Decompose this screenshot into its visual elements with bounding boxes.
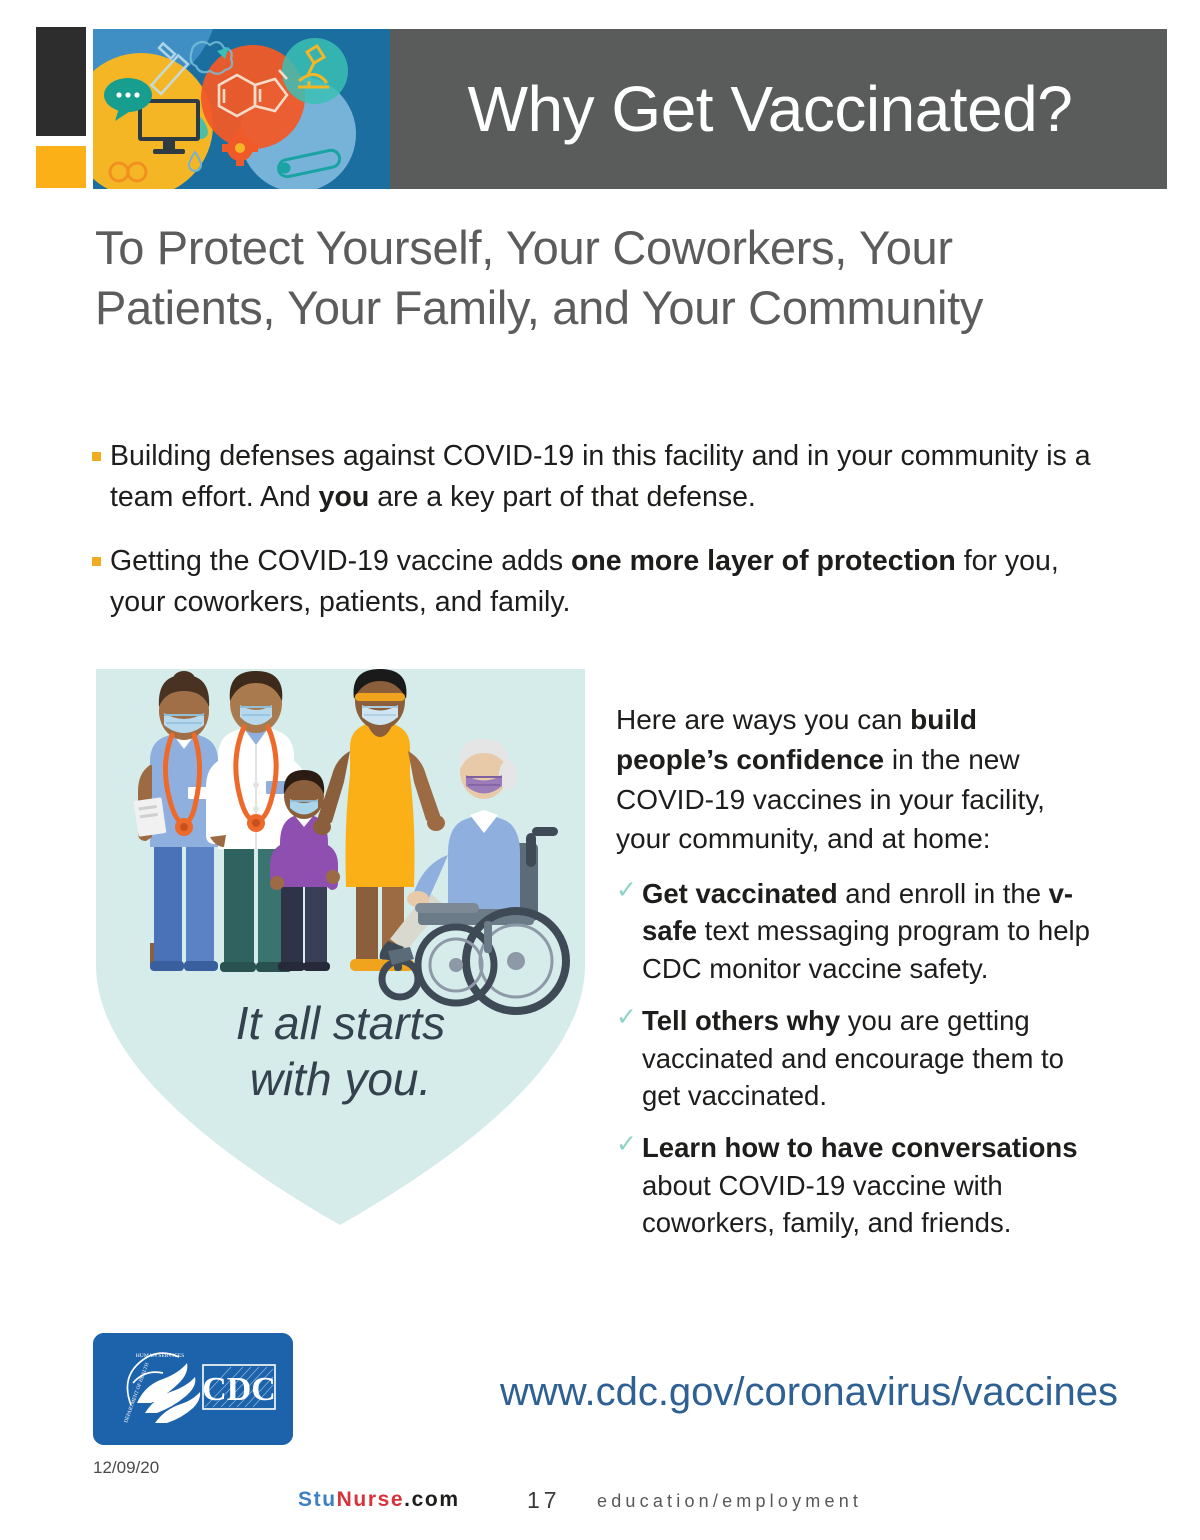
key-points-list: Building defenses against COVID-19 in th… <box>92 436 1092 645</box>
page-title: Why Get Vaccinated? <box>390 29 1150 189</box>
cdc-logo: HUMAN SERVICES DEPARTMENT OF HEALTH CDC <box>93 1333 293 1445</box>
square-bullet-icon <box>92 452 101 461</box>
check-icon: ✓ <box>616 1002 642 1114</box>
cdc-logo-text: CDC <box>202 1371 276 1408</box>
stunurse-brand[interactable]: StuNurse.com <box>298 1488 460 1512</box>
bullet-text: Building defenses against COVID-19 in th… <box>110 436 1092 519</box>
check-icon: ✓ <box>616 875 642 987</box>
cdc-url[interactable]: www.cdc.gov/coronavirus/vaccines <box>500 1370 1120 1415</box>
confidence-section: Here are ways you can build people’s con… <box>616 700 1096 1257</box>
header-accent-dark-block <box>36 27 86 136</box>
header-accent-gold-block <box>36 146 86 188</box>
shield-illustration: It all starts with you. <box>88 665 593 1230</box>
illustration-tagline: It all starts with you. <box>88 995 593 1107</box>
tagline-line-2: with you. <box>88 1051 593 1107</box>
check-item-text: Get vaccinated and enroll in the v-safe … <box>642 875 1096 987</box>
list-item: ✓ Get vaccinated and enroll in the v-saf… <box>616 875 1096 987</box>
science-collage-graphic <box>93 29 390 189</box>
square-bullet-icon <box>92 557 101 566</box>
page-header: Why Get Vaccinated? <box>0 0 1200 210</box>
check-item-text: Learn how to have conversations about CO… <box>642 1129 1096 1241</box>
brand-com: .com <box>404 1488 459 1511</box>
bullet-text: Getting the COVID-19 vaccine adds one mo… <box>110 541 1092 624</box>
list-item: Getting the COVID-19 vaccine adds one mo… <box>92 541 1092 624</box>
brand-stu: Stu <box>298 1488 337 1511</box>
list-item: Building defenses against COVID-19 in th… <box>92 436 1092 519</box>
page-subtitle: To Protect Yourself, Your Coworkers, You… <box>95 218 1125 338</box>
confidence-intro: Here are ways you can build people’s con… <box>616 700 1096 859</box>
check-icon: ✓ <box>616 1129 642 1241</box>
list-item: ✓ Learn how to have conversations about … <box>616 1129 1096 1241</box>
publication-date: 12/09/20 <box>93 1458 159 1478</box>
check-item-text: Tell others why you are getting vaccinat… <box>642 1002 1096 1114</box>
brand-nurse: Nurse <box>337 1488 405 1511</box>
page-number: 17 <box>527 1487 561 1514</box>
tagline-line-1: It all starts <box>88 995 593 1051</box>
footer-section-label: education/employment <box>597 1491 862 1512</box>
svg-text:HUMAN SERVICES: HUMAN SERVICES <box>136 1353 185 1359</box>
list-item: ✓ Tell others why you are getting vaccin… <box>616 1002 1096 1114</box>
